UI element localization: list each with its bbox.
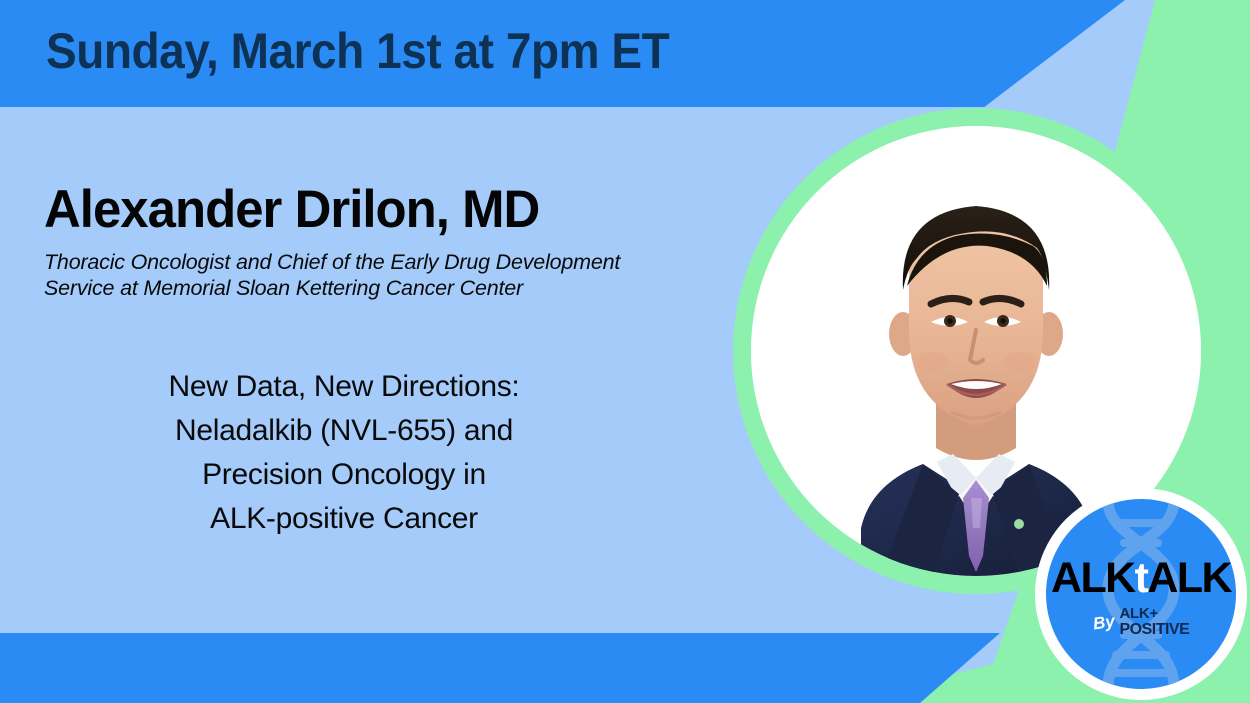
logo-byline: By ALK+ POSITIVE [1093,607,1190,636]
logo-word-t: t [1135,554,1148,602]
talk-title-line-1: New Data, New Directions: [20,365,668,409]
byline-by-label: By [1092,612,1116,632]
byline-org: ALK+ POSITIVE [1119,607,1189,636]
speaker-name: Alexander Drilon, MD [44,179,539,240]
byline-org-line-1: ALK+ [1119,607,1189,621]
logo-wordmark: ALKtALK [1051,557,1231,600]
promo-graphic: Sunday, March 1st at 7pm ET Alexander Dr… [0,0,1250,703]
footer-band [0,633,1000,703]
talk-title-line-2: Neladalkib (NVL-655) and [20,409,668,453]
talk-title: New Data, New Directions: Neladalkib (NV… [20,365,668,541]
speaker-info-column: Alexander Drilon, MD Thoracic Oncologist… [0,107,700,633]
byline-org-line-2: POSITIVE [1119,622,1189,637]
logo-word-alk-right: ALK [1147,554,1231,602]
speaker-role: Thoracic Oncologist and Chief of the Ear… [44,249,692,301]
logo-circle: ALKtALK By ALK+ POSITIVE [1046,499,1236,689]
alktalk-logo-badge[interactable]: ALKtALK By ALK+ POSITIVE [1035,488,1247,700]
event-datetime-title: Sunday, March 1st at 7pm ET [46,22,669,80]
talk-title-line-4: ALK-positive Cancer [20,497,668,541]
logo-word-alk-left: ALK [1051,554,1135,602]
talk-title-line-3: Precision Oncology in [20,453,668,497]
